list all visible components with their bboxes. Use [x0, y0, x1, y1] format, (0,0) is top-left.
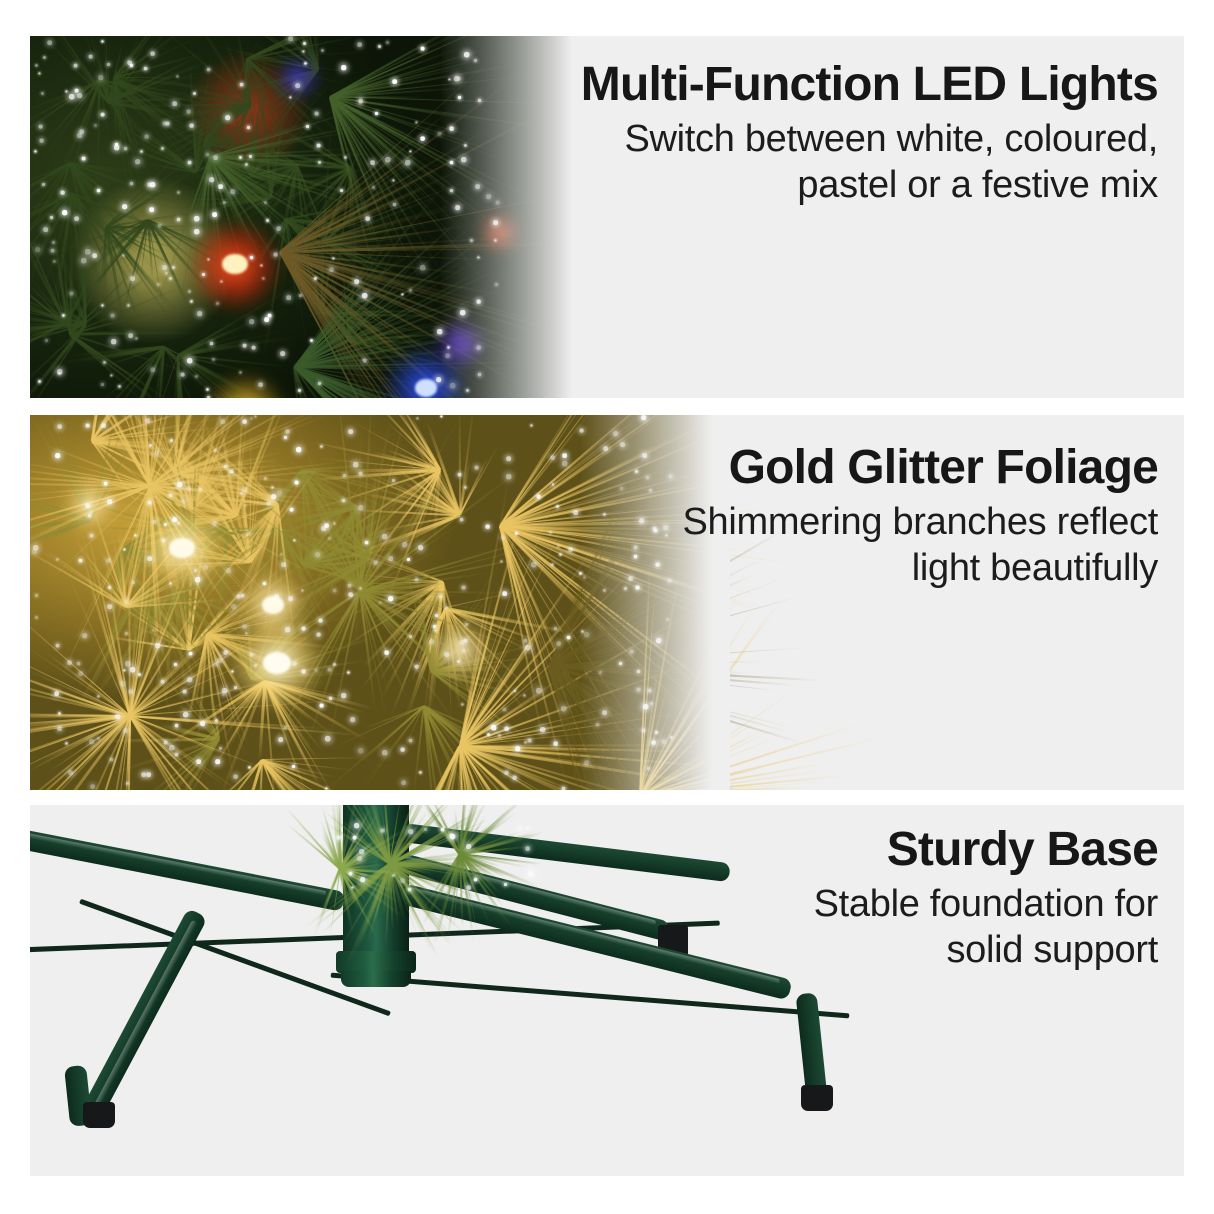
needle-tip-sparkle [401, 294, 403, 296]
needle-tip-sparkle [194, 229, 199, 234]
glitter-sparkle [56, 643, 59, 646]
needle-tip-sparkle [38, 124, 41, 127]
panel-subline-line-1: Stable foundation for [728, 881, 1158, 927]
glitter-sparkle [515, 532, 517, 534]
needle-tip-sparkle [128, 334, 132, 338]
needle-tip-sparkle [143, 67, 146, 70]
glitter-sparkle [561, 706, 566, 711]
glitter-sparkle [212, 521, 215, 524]
needle-tip-sparkle [298, 389, 300, 391]
glitter-sparkle [182, 689, 185, 692]
needle-tip-sparkle [354, 823, 358, 827]
needle-tip-sparkle [149, 208, 153, 212]
glitter-sparkle [525, 645, 530, 650]
needle-tip-sparkle [114, 145, 118, 149]
glitter-sparkle [419, 771, 421, 773]
glitter-sparkle [319, 703, 322, 706]
needle-tip-sparkle [372, 186, 374, 188]
needle-tip-sparkle [36, 65, 38, 67]
needle-tip-sparkle [75, 217, 79, 221]
glitter-sparkle [407, 558, 410, 561]
stand-leg-rear-left [30, 827, 346, 912]
needle-tip-sparkle [266, 219, 268, 221]
glitter-sparkle [215, 759, 219, 763]
glitter-sparkle [285, 430, 288, 433]
glitter-sparkle [247, 531, 251, 535]
warm-led-glow [430, 620, 490, 680]
glitter-sparkle [388, 596, 392, 600]
needle-tip-sparkle [85, 249, 90, 254]
glitter-sparkle [409, 635, 411, 637]
needle-tip-sparkle [352, 836, 355, 839]
feature-copy-led-lights: Multi-Function LED Lights Switch between… [498, 60, 1158, 209]
needle-tip-sparkle [111, 339, 116, 344]
glitter-sparkle [33, 545, 37, 549]
glitter-sparkle [292, 765, 295, 768]
needle-tip-sparkle [147, 182, 151, 186]
needle-tip-sparkle [259, 382, 263, 386]
glitter-sparkle [302, 670, 305, 673]
glitter-sparkle [220, 419, 224, 423]
glitter-sparkle [199, 487, 202, 490]
glitter-sparkle [188, 652, 191, 655]
glitter-sparkle [35, 594, 37, 596]
glitter-sparkle [254, 416, 256, 418]
needle-tip-sparkle [352, 886, 354, 888]
needle-tip-sparkle [310, 339, 312, 341]
glitter-sparkle [89, 739, 93, 743]
glitter-sparkle [557, 545, 559, 547]
glitter-sparkle [86, 424, 89, 427]
glitter-sparkle [174, 663, 177, 666]
glitter-sparkle [250, 653, 253, 656]
needle-tip-sparkle [130, 64, 132, 66]
glitter-sparkle [554, 627, 557, 630]
needle-tip-sparkle [280, 351, 284, 355]
glitter-sparkle [573, 510, 577, 514]
glitter-sparkle [130, 667, 135, 672]
needle-tip-sparkle [247, 125, 250, 128]
glitter-sparkle [277, 490, 282, 495]
glitter-sparkle [415, 578, 418, 581]
needle-tip-sparkle [58, 372, 60, 374]
needle-tip-sparkle [212, 213, 216, 217]
needle-tip-sparkle [88, 55, 91, 58]
needle-tip-sparkle [38, 380, 40, 382]
feature-panel-sturdy-base: Sturdy Base Stable foundation for solid … [30, 805, 1184, 1176]
needle-tip-sparkle [62, 210, 66, 214]
needle-tip-sparkle [193, 92, 195, 94]
glitter-sparkle [86, 503, 90, 507]
glitter-sparkle [536, 688, 541, 693]
glitter-sparkle [288, 596, 292, 600]
glitter-sparkle [341, 693, 345, 697]
needle-tip-sparkle [52, 241, 54, 243]
glitter-sparkle [148, 501, 151, 504]
needle-tip-sparkle [374, 112, 377, 115]
needle-tip-sparkle [315, 111, 318, 114]
needle-tip-sparkle [191, 301, 193, 303]
glitter-sparkle [382, 750, 386, 754]
glitter-sparkle [392, 479, 395, 482]
needle-tip-sparkle [420, 136, 424, 140]
needle-tip-sparkle [459, 890, 461, 892]
glitter-sparkle [175, 723, 178, 726]
needle-tip-sparkle [43, 227, 47, 231]
needle-tip-sparkle [172, 102, 176, 106]
panel-subline-line-2: pastel or a festive mix [498, 162, 1158, 208]
needle-tip-sparkle [194, 216, 199, 221]
warm-led-glow [64, 479, 116, 531]
needle-tip-sparkle [409, 289, 411, 291]
glitter-sparkle [124, 600, 128, 604]
glitter-sparkle [365, 540, 368, 543]
glitter-sparkle [242, 419, 246, 423]
needle-tip-sparkle [78, 93, 82, 97]
needle-tip-sparkle [176, 218, 179, 221]
panel-headline: Multi-Function LED Lights [498, 60, 1158, 110]
needle-tip-sparkle [385, 157, 390, 162]
glitter-sparkle [226, 568, 230, 572]
needle-tip-sparkle [357, 856, 361, 860]
product-feature-infographic: Multi-Function LED Lights Switch between… [0, 0, 1214, 1214]
glitter-sparkle [237, 594, 240, 597]
glitter-sparkle [224, 465, 227, 468]
needle-tip-sparkle [43, 56, 45, 58]
glitter-sparkle [348, 593, 352, 597]
glitter-sparkle [107, 558, 111, 562]
needle-tip-sparkle [230, 189, 234, 193]
glitter-sparkle [316, 632, 319, 635]
needle-tip-sparkle [415, 121, 417, 123]
glitter-sparkle [401, 748, 405, 752]
glitter-sparkle [177, 482, 181, 486]
warm-led-bulb [263, 652, 291, 674]
glitter-sparkle [203, 565, 207, 569]
needle-tip-sparkle [35, 247, 39, 251]
glitter-sparkle [464, 486, 466, 488]
glitter-sparkle [551, 563, 553, 565]
glitter-sparkle [54, 691, 58, 695]
needle-tip-sparkle [188, 160, 191, 163]
glitter-sparkle [243, 487, 247, 491]
glitter-sparkle [562, 454, 566, 458]
needle-tip-sparkle [165, 272, 167, 274]
panel-headline: Sturdy Base [728, 825, 1158, 875]
needle-tip-sparkle [304, 62, 306, 64]
glitter-sparkle [359, 471, 362, 474]
glitter-sparkle [89, 533, 92, 536]
glitter-sparkle [536, 495, 539, 498]
feature-panel-gold-foliage: Gold Glitter Foliage Shimmering branches… [30, 415, 1184, 790]
needle-tip-sparkle [302, 50, 304, 52]
needle-tip-sparkle [107, 63, 110, 66]
glitter-sparkle [514, 690, 517, 693]
needle-tip-sparkle [187, 109, 191, 113]
glitter-sparkle [531, 424, 533, 426]
glitter-sparkle [320, 445, 322, 447]
glitter-sparkle [229, 470, 232, 473]
needle-tip-sparkle [50, 216, 53, 219]
needle-tip-sparkle [207, 396, 210, 398]
glitter-sparkle [58, 726, 62, 730]
glitter-sparkle [554, 741, 558, 745]
needle-tip-sparkle [365, 217, 369, 221]
glitter-sparkle [175, 752, 178, 755]
stand-collar-ring-lower [341, 971, 411, 987]
panel-subline-line-2: solid support [728, 927, 1158, 973]
glitter-sparkle [134, 534, 136, 536]
glitter-sparkle [58, 712, 60, 714]
glitter-sparkle [153, 520, 156, 523]
needle-tip-sparkle [329, 267, 333, 271]
glitter-sparkle [246, 633, 248, 635]
needle-tip-sparkle [135, 338, 137, 340]
glitter-sparkle [350, 717, 354, 721]
glitter-sparkle [183, 712, 188, 717]
needle-tip-sparkle [212, 358, 214, 360]
needle-tip-sparkle [250, 256, 253, 259]
needle-tip-sparkle [61, 191, 65, 195]
needle-tip-sparkle [207, 258, 209, 260]
glitter-sparkle [561, 787, 564, 790]
blue-led-bulb [415, 379, 437, 397]
needle-tip-sparkle [220, 280, 222, 282]
needle-tip-sparkle [110, 314, 113, 317]
needle-tip-sparkle [130, 276, 134, 280]
needle-tip-sparkle [81, 258, 86, 263]
glitter-sparkle [445, 652, 449, 656]
glitter-sparkle [222, 694, 224, 696]
needle-tip-sparkle [100, 112, 103, 115]
needle-tip-sparkle [127, 304, 129, 306]
glitter-sparkle [120, 681, 125, 686]
glitter-sparkle [296, 447, 300, 451]
needle-tip-sparkle [362, 293, 367, 298]
needle-tip-sparkle [289, 96, 291, 98]
glitter-sparkle [487, 733, 489, 735]
glitter-sparkle [35, 616, 37, 618]
glitter-sparkle [97, 695, 99, 697]
needle-tip-sparkle [318, 161, 320, 163]
needle-tip-sparkle [176, 75, 178, 77]
glitter-sparkle [475, 466, 478, 469]
feature-copy-gold-foliage: Gold Glitter Foliage Shimmering branches… [578, 443, 1158, 592]
needle-tip-sparkle [381, 828, 384, 831]
needle-tip-sparkle [370, 160, 374, 164]
glitter-sparkle [486, 524, 490, 528]
glitter-sparkle [550, 456, 554, 460]
needle-tip-sparkle [441, 827, 444, 830]
glitter-sparkle [172, 517, 176, 521]
glitter-sparkle [502, 591, 506, 595]
glitter-sparkle [223, 650, 227, 654]
glitter-sparkle [285, 627, 289, 631]
needle-tip-sparkle [219, 184, 223, 188]
glitter-sparkle [382, 534, 386, 538]
glitter-sparkle [214, 449, 216, 451]
needle-tip-sparkle [165, 122, 168, 125]
needle-tip-sparkle [386, 41, 388, 43]
glitter-sparkle [302, 627, 305, 630]
glitter-sparkle [78, 558, 81, 561]
needle-tip-sparkle [45, 339, 47, 341]
glitter-sparkle [416, 417, 418, 419]
glitter-sparkle [274, 595, 278, 599]
glitter-sparkle [434, 629, 436, 631]
glitter-sparkle [231, 604, 235, 608]
glitter-sparkle [505, 771, 509, 775]
needle-tip-sparkle [170, 277, 172, 279]
needle-tip-sparkle [245, 163, 247, 165]
glitter-sparkle [419, 545, 423, 549]
glitter-sparkle [107, 499, 111, 503]
violet-led-glow-top [276, 56, 320, 100]
glitter-sparkle [347, 671, 349, 673]
glitter-sparkle [240, 593, 243, 596]
needle-tip-sparkle [314, 277, 316, 279]
needle-tip-sparkle [276, 227, 280, 231]
glitter-sparkle [433, 625, 436, 628]
needle-tip-sparkle [65, 90, 67, 92]
glitter-sparkle [409, 739, 412, 742]
glitter-sparkle [271, 494, 275, 498]
needle-tip-sparkle [144, 134, 148, 138]
needle-tip-sparkle [249, 320, 253, 324]
needle-tip-sparkle [526, 828, 528, 830]
needle-tip-sparkle [341, 65, 345, 69]
needle-tip-sparkle [299, 294, 302, 297]
needle-tip-sparkle [306, 125, 309, 128]
needle-tip-sparkle [69, 94, 74, 99]
feature-panel-led-lights: Multi-Function LED Lights Switch between… [30, 36, 1184, 398]
glitter-sparkle [328, 667, 331, 670]
glitter-sparkle [491, 725, 496, 730]
needle-tip-sparkle [249, 155, 252, 158]
glitter-sparkle [524, 741, 526, 743]
glitter-sparkle [457, 660, 459, 662]
glitter-sparkle [294, 481, 297, 484]
glitter-sparkle [125, 661, 130, 666]
glitter-sparkle [325, 788, 327, 790]
needle-tip-sparkle [96, 189, 99, 192]
warm-led-bulb [262, 596, 284, 614]
glitter-sparkle [457, 473, 460, 476]
needle-tip-sparkle [242, 344, 245, 347]
needle-tip-sparkle [362, 359, 365, 362]
glitter-sparkle [348, 429, 352, 433]
needle-tip-sparkle [206, 388, 208, 390]
glitter-sparkle [32, 549, 36, 553]
glitter-sparkle [348, 584, 351, 587]
glitter-sparkle [68, 770, 72, 774]
needle-tip-sparkle [393, 202, 396, 205]
glitter-sparkle [240, 492, 242, 494]
glitter-sparkle [556, 505, 558, 507]
needle-tip-sparkle [150, 52, 154, 56]
needle-tip-sparkle [206, 152, 209, 155]
needle-tip-sparkle [41, 92, 43, 94]
needle-tip-sparkle [123, 254, 125, 256]
feature-copy-sturdy-base: Sturdy Base Stable foundation for solid … [728, 825, 1158, 974]
glitter-sparkle [108, 604, 112, 608]
panel-subline-line-2: light beautifully [578, 545, 1158, 591]
glitter-sparkle [333, 522, 335, 524]
glitter-sparkle [324, 524, 328, 528]
needle-tip-sparkle [393, 79, 397, 83]
needle-tip-sparkle [47, 40, 51, 44]
glitter-sparkle [149, 444, 151, 446]
needle-tip-sparkle [295, 83, 299, 87]
glitter-sparkle [248, 766, 250, 768]
needle-tip-sparkle [517, 826, 521, 830]
needle-tip-sparkle [421, 46, 424, 49]
glitter-sparkle [501, 535, 505, 539]
glitter-sparkle [557, 642, 561, 646]
glitter-sparkle [429, 640, 433, 644]
needle-tip-sparkle [98, 75, 102, 79]
glitter-sparkle [217, 658, 222, 663]
glitter-sparkle [177, 522, 179, 524]
glitter-sparkle [132, 581, 135, 584]
glitter-sparkle [266, 502, 270, 506]
stand-foot-cap-left [83, 1102, 115, 1128]
glitter-sparkle [154, 450, 158, 454]
needle-tip-sparkle [225, 115, 229, 119]
glitter-sparkle [388, 556, 392, 560]
needle-tip-sparkle [188, 290, 190, 292]
glitter-sparkle [315, 669, 317, 671]
glitter-sparkle [160, 679, 163, 682]
glitter-sparkle [343, 474, 346, 477]
needle-tip-sparkle [180, 373, 183, 376]
needle-tip-sparkle [354, 279, 358, 283]
glitter-sparkle [515, 746, 519, 750]
needle-tip-sparkle [42, 183, 44, 185]
needle-tip-sparkle [101, 41, 103, 43]
needle-tip-sparkle [339, 189, 342, 192]
glitter-sparkle [384, 651, 388, 655]
needle-tip-sparkle [264, 318, 268, 322]
needle-tip-sparkle [80, 130, 84, 134]
needle-tip-sparkle [252, 345, 255, 348]
glitter-sparkle [141, 772, 145, 776]
needle-tip-sparkle [216, 302, 218, 304]
glitter-sparkle [101, 423, 105, 427]
glitter-sparkle [549, 531, 551, 533]
needle-tip-sparkle [528, 871, 533, 876]
glitter-sparkle [82, 633, 86, 637]
glitter-sparkle [460, 517, 463, 520]
glitter-sparkle [353, 462, 358, 467]
glitter-sparkle [147, 773, 151, 777]
glitter-sparkle [196, 759, 200, 763]
glitter-sparkle [292, 662, 296, 666]
glitter-sparkle [318, 618, 321, 621]
glitter-sparkle [104, 481, 107, 484]
needle-tip-sparkle [359, 849, 363, 853]
glitter-sparkle [195, 577, 200, 582]
needle-tip-sparkle [77, 133, 81, 137]
glitter-sparkle [234, 686, 237, 689]
glitter-sparkle [271, 486, 273, 488]
needle-tip-sparkle [162, 265, 166, 269]
panel-subline-line-1: Shimmering branches reflect [578, 499, 1158, 545]
needle-tip-sparkle [474, 878, 477, 881]
needle-tip-sparkle [420, 265, 425, 270]
needle-tip-sparkle [75, 89, 78, 92]
glitter-sparkle [186, 486, 190, 490]
